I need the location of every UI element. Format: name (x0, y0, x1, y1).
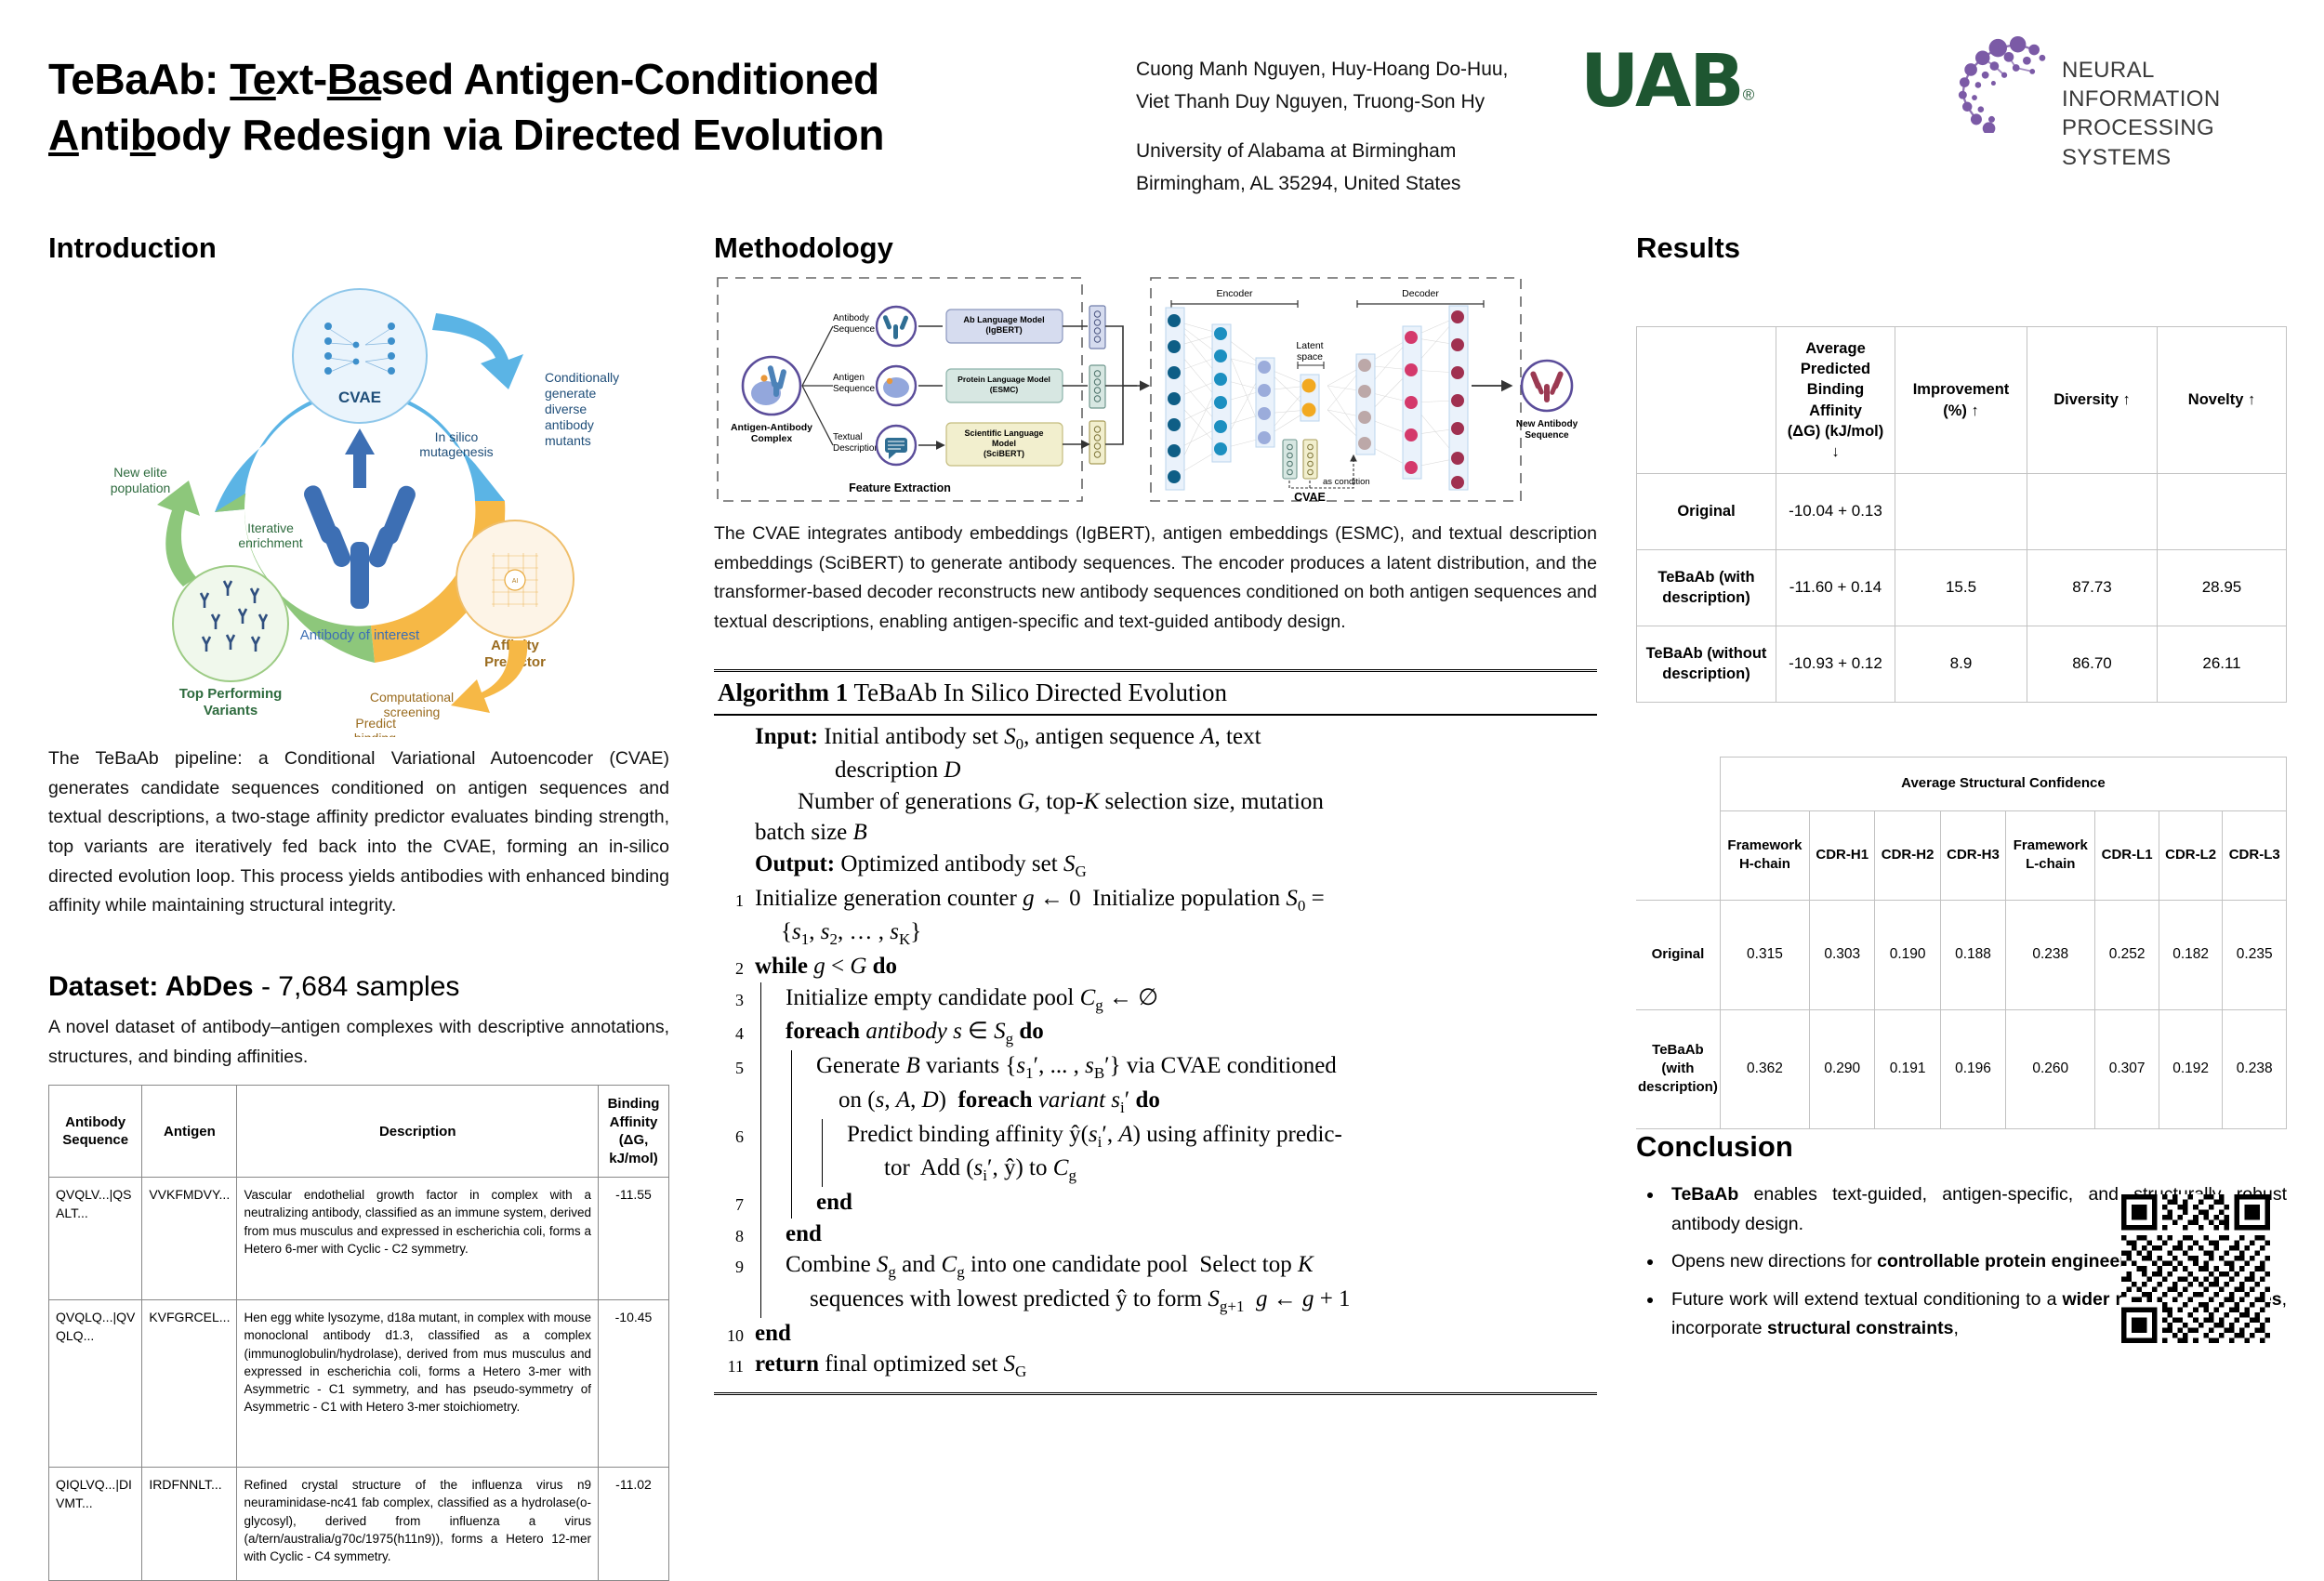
introduction-pipeline-figure: Antibody of interest CVAE (75, 272, 642, 737)
cell-antigen: IRDFNNLT... (142, 1468, 237, 1581)
figure-label-in-silico-2: mutagenesis (419, 444, 493, 459)
algorithm-output-label: Output: (755, 851, 835, 876)
authors-line-2: Viet Thanh Duy Nguyen, Truong-Son Hy (1136, 86, 1619, 119)
cell-antibody-sequence: QIQLVQ...|DI VMT... (49, 1468, 142, 1581)
table-row: QVQLV...|QS ALT... VVKFMDVY... Vascular … (49, 1178, 669, 1300)
col-header-cdr-l3: CDR-L3 (2223, 810, 2287, 900)
page-title-line-2: Antibody Redesign via Directed Evolution (48, 108, 1099, 164)
table-row: Original -10.04 + 0.13 (1637, 473, 2287, 549)
algorithm-line-text: Combine Sg and Cg into one candidate poo… (760, 1249, 1595, 1318)
algorithm-number: Algorithm 1 (718, 679, 848, 706)
algorithm-line-text: Predict binding affinity ŷ(si′, A) using… (822, 1119, 1595, 1188)
algorithm-line-text: end (791, 1187, 1595, 1219)
algorithm-line-number: 11 (716, 1349, 755, 1377)
results-table-affinity: Average Predicted Binding Affinity (ΔG) … (1636, 326, 2287, 703)
authors-block: Cuong Manh Nguyen, Huy-Hoang Do-Huu, Vie… (1136, 54, 1619, 118)
col-header-affinity-l1: Average Predicted (1801, 340, 1870, 377)
figure-label-decoder: Decoder (1402, 288, 1439, 299)
conclusion-b2-pre: Opens new directions for (1671, 1251, 1877, 1271)
col-header-framework-l-l1: Framework (2014, 837, 2088, 853)
table-row: QVQLQ...|QV QLQ... KVFGRCEL... Hen egg w… (49, 1300, 669, 1468)
algorithm-line: 1 Initialize generation counter g ← 0 In… (716, 883, 1595, 952)
neurips-logo-text: NEURAL INFORMATION PROCESSING SYSTEMS (2062, 56, 2296, 172)
algorithm-input-text: Input: Initial antibody set S0, antigen … (755, 721, 1595, 849)
figure-branch-text-l1: Textual (833, 432, 863, 442)
cell-improvement (1895, 473, 2027, 549)
cell-description: Vascular endothelial growth factor in co… (237, 1178, 599, 1300)
cell-binding-affinity: -11.55 (599, 1178, 669, 1300)
col-header-framework-h-l1: Framework (1727, 837, 1802, 853)
algorithm-line: 3 Initialize empty candidate pool Cg ← ∅ (716, 982, 1595, 1017)
algorithm-input-line-1: Initial antibody set S0, antigen sequenc… (824, 724, 1261, 749)
affiliation-line-1: University of Alabama at Birmingham (1136, 136, 1619, 168)
col-header-antibody-sequence: Antibody Sequence (49, 1086, 142, 1178)
row-label-l2: (with (1661, 1061, 1694, 1076)
cell-novelty (2158, 473, 2287, 549)
pipeline-cycle-diagram: Antibody of interest CVAE (75, 272, 642, 737)
figure-out-bottom-1: Predict (355, 716, 396, 731)
figure-node-top-variants-line1: Top Performing (179, 686, 283, 702)
cell-cdr-h2: 0.191 (1875, 1009, 1940, 1128)
group-header-avg-structural-confidence: Average Structural Confidence (1720, 757, 2286, 810)
cell-affinity: -10.04 + 0.13 (1776, 473, 1895, 549)
conclusion-b3-pre: Future work will extend textual conditio… (1671, 1289, 2063, 1310)
uab-registered-icon: ® (1743, 86, 1755, 104)
dataset-section: Dataset: AbDes - 7,684 samples A novel d… (48, 969, 669, 1581)
figure-out-right-3: diverse (545, 402, 587, 416)
cell-cdr-h3: 0.196 (1940, 1009, 2005, 1128)
table-header-row: Antibody Sequence Antigen Description Bi… (49, 1086, 669, 1178)
algorithm-line-number: 9 (716, 1249, 755, 1278)
algorithm-line-number (716, 721, 755, 728)
col-header-improvement: Improvement (%) ↑ (1895, 327, 2027, 474)
algorithm-line: 9 Combine Sg and Cg into one candidate p… (716, 1249, 1595, 1318)
section-heading-results: Results (1636, 231, 2287, 265)
cell-cdr-l2: 0.182 (2159, 900, 2223, 1009)
table-row: TeBaAb (with description) -11.60 + 0.14 … (1637, 549, 2287, 626)
col-header-affinity-l3: (ΔG) (kJ/mol) ↓ (1788, 423, 1884, 460)
cell-cdr-h2: 0.190 (1875, 900, 1940, 1009)
col-header-cdr-l2: CDR-L2 (2159, 810, 2223, 900)
algorithm-line: 8 end (716, 1219, 1595, 1250)
cell-description: Hen egg white lysozyme, d18a mutant, in … (237, 1300, 599, 1468)
figure-label-iterative-1: Iterative (247, 520, 294, 535)
col-header-framework-h: Framework H-chain (1720, 810, 1809, 900)
uab-logo-text: UAB (1580, 40, 1743, 124)
qr-code[interactable] (2121, 1194, 2270, 1343)
uab-logo: UAB® (1580, 45, 1868, 119)
algorithm-line-number: 1 (716, 883, 755, 912)
cell-framework-l: 0.260 (2006, 1009, 2095, 1128)
column-right: Results Average Predicted Binding Affini… (1636, 231, 2287, 1352)
figure-branch-antibody-l2: Sequence (833, 324, 875, 335)
dataset-heading: Dataset: AbDes - 7,684 samples (48, 969, 669, 1005)
row-label-l1: TeBaAb (without (1646, 645, 1767, 662)
table-header-row: Framework H-chain CDR-H1 CDR-H2 CDR-H3 F… (1636, 810, 2287, 900)
col-header-framework-l: Framework L-chain (2006, 810, 2095, 900)
col-header-blank (1637, 327, 1776, 474)
col-header-cdr-h1: CDR-H1 (1810, 810, 1875, 900)
algorithm-line-text: return final optimized set SG (755, 1349, 1595, 1383)
figure-label-complex-l1: Antigen-Antibody (731, 422, 812, 433)
cell-diversity: 87.73 (2027, 549, 2158, 626)
col-header-affinity-l2: Binding Affinity (1807, 381, 1864, 418)
title-block: TeBaAb: Text-Based Antigen-Conditioned A… (48, 52, 1099, 164)
column-left: Introduction (48, 231, 669, 1581)
cell-antibody-sequence: QVQLQ...|QV QLQ... (49, 1300, 142, 1468)
row-label-tebaab-without-description: TeBaAb (without description) (1637, 626, 1776, 702)
figure-label-complex-l2: Complex (751, 433, 793, 444)
dataset-description: A novel dataset of antibody–antigen comp… (48, 1013, 669, 1072)
cell-binding-affinity: -11.02 (599, 1468, 669, 1581)
figure-output-l1: New Antibody (1516, 419, 1578, 429)
algorithm-line-text: Initialize generation counter g ← 0 Init… (755, 883, 1595, 952)
cell-improvement: 15.5 (1895, 549, 2027, 626)
algorithm-line-number: 7 (716, 1187, 755, 1216)
algorithm-input-label: Input: (755, 724, 818, 749)
figure-label-cvae-box: CVAE (1294, 491, 1326, 504)
table-header-row: Average Structural Confidence (1636, 757, 2287, 810)
algorithm-line-text: Initialize empty candidate pool Cg ← ∅ (760, 982, 1595, 1017)
poster-root: TeBaAb: Text-Based Antigen-Conditioned A… (0, 0, 2324, 1548)
dataset-table: Antibody Sequence Antigen Description Bi… (48, 1085, 669, 1581)
col-header-novelty: Novelty ↑ (2158, 327, 2287, 474)
conclusion-b3-bold2: structural constraints (1767, 1318, 1953, 1338)
figure-model-sci-l3: (SciBERT) (984, 449, 1024, 458)
row-label-l1: TeBaAb (1652, 1042, 1704, 1058)
cell-cdr-h3: 0.188 (1940, 900, 2005, 1009)
figure-label-as-condition: as condition (1323, 477, 1370, 487)
col-header-cdr-h2: CDR-H2 (1875, 810, 1940, 900)
figure-model-protein-l1: Protein Language Model (957, 375, 1050, 384)
cell-diversity (2027, 473, 2158, 549)
figure-model-ab-l2: (IgBERT) (985, 325, 1022, 335)
algorithm-input-row: Input: Initial antibody set S0, antigen … (716, 721, 1595, 849)
row-label-l1: TeBaAb (with (1657, 569, 1754, 586)
figure-label-iterative-2: enrichment (238, 535, 302, 550)
cell-novelty: 26.11 (2158, 626, 2287, 702)
results-table-structural-confidence: Average Structural Confidence Framework … (1636, 757, 2287, 1129)
cell-description: Refined crystal structure of the influen… (237, 1468, 599, 1581)
cell-framework-h: 0.315 (1720, 900, 1809, 1009)
figure-label-feature-extraction: Feature Extraction (849, 481, 951, 494)
col-header-cdr-h3: CDR-H3 (1940, 810, 2005, 900)
algorithm-line: 4 foreach antibody s ∈ Sg do (716, 1016, 1595, 1050)
row-label-l2: description) (1662, 665, 1750, 682)
figure-label-antibody-of-interest: Antibody of interest (300, 627, 420, 643)
algorithm-output-text: Output: Optimized antibody set SG (755, 849, 1595, 883)
conclusion-b1-bold: TeBaAb (1671, 1184, 1738, 1205)
dataset-heading-light: - 7,684 samples (254, 971, 460, 1002)
algorithm-input-line-3: Number of generations G, top-K selection… (755, 786, 1595, 818)
figure-out-left-1: New elite (113, 465, 167, 480)
algorithm-box: Algorithm 1 TeBaAb In Silico Directed Ev… (714, 669, 1597, 1395)
col-header-blank-corner-2 (1636, 810, 1720, 900)
figure-out-left-2: population (111, 481, 171, 495)
figure-model-sci-l1: Scientific Language (964, 428, 1043, 438)
table-row: TeBaAb (with description) 0.362 0.290 0.… (1636, 1009, 2287, 1128)
section-heading-introduction: Introduction (48, 231, 669, 265)
cell-antibody-sequence: QVQLV...|QS ALT... (49, 1178, 142, 1300)
col-header-binding-affinity: Binding Affinity (ΔG, kJ/mol) (599, 1086, 669, 1178)
cell-affinity: -11.60 + 0.14 (1776, 549, 1895, 626)
col-header-diversity: Diversity ↑ (2027, 327, 2158, 474)
neurips-swirl-icon (1952, 35, 2062, 133)
figure-out-right-4: antibody (545, 417, 594, 432)
row-label-original: Original (1637, 473, 1776, 549)
algorithm-body: Input: Initial antibody set S0, antigen … (714, 716, 1597, 1392)
col-header-affinity-l2: Affinity (610, 1114, 658, 1130)
neurips-logo: NEURAL INFORMATION PROCESSING SYSTEMS (1952, 35, 2296, 133)
results-table-1-wrapper: Average Predicted Binding Affinity (ΔG) … (1636, 326, 2287, 703)
figure-node-top-variants-line2: Variants (204, 703, 257, 718)
algorithm-input-line-2: description D (755, 755, 1595, 786)
figure-model-ab-l1: Ab Language Model (963, 315, 1044, 324)
figure-out-right-1: Conditionally (545, 370, 619, 385)
figure-label-latent-l2: space (1297, 351, 1323, 362)
figure-branch-antigen-l2: Sequence (833, 384, 875, 394)
row-label-tebaab-with-description: TeBaAb (with description) (1636, 1009, 1720, 1128)
algorithm-output-row: Output: Optimized antibody set SG (716, 849, 1595, 883)
algorithm-line-text: Generate B variants {s1′, ... , sB′} via… (791, 1050, 1595, 1119)
col-header-framework-h-l2: H-chain (1739, 856, 1790, 872)
row-label-l2: description) (1662, 589, 1750, 606)
figure-label-latent-l1: Latent (1296, 340, 1323, 351)
figure-branch-antibody-l1: Antibody (833, 313, 869, 323)
cell-framework-l: 0.238 (2006, 900, 2095, 1009)
cell-diversity: 86.70 (2027, 626, 2158, 702)
col-header-antibody-l2: Sequence (62, 1132, 128, 1148)
figure-branch-antigen-l1: Antigen (833, 373, 865, 383)
algorithm-input-line-4: batch size B (755, 817, 1595, 849)
page-title-line-1: TeBaAb: Text-Based Antigen-Conditioned (48, 52, 1099, 108)
col-header-antigen: Antigen (142, 1086, 237, 1178)
conclusion-b3-post: , (1953, 1318, 1958, 1338)
cell-cdr-h1: 0.303 (1810, 900, 1875, 1009)
table-header-row: Average Predicted Binding Affinity (ΔG) … (1637, 327, 2287, 474)
cell-affinity: -10.93 + 0.12 (1776, 626, 1895, 702)
algorithm-line-text: end (760, 1219, 1595, 1250)
row-label-l3: description) (1638, 1079, 1718, 1095)
introduction-caption: The TeBaAb pipeline: a Conditional Varia… (48, 744, 669, 920)
algorithm-line: 2 while g < G do (716, 951, 1595, 982)
algorithm-line-text: end (755, 1318, 1595, 1350)
col-header-framework-l-l2: L-chain (2026, 856, 2075, 872)
row-label-original: Original (1636, 900, 1720, 1009)
authors-line-1: Cuong Manh Nguyen, Huy-Hoang Do-Huu, (1136, 54, 1619, 86)
cell-binding-affinity: -10.45 (599, 1300, 669, 1468)
table-row: QIQLVQ...|DI VMT... IRDFNNLT... Refined … (49, 1468, 669, 1581)
algorithm-line-number: 3 (716, 982, 755, 1011)
algorithm-line: 6 Predict binding affinity ŷ(si′, A) usi… (716, 1119, 1595, 1188)
figure-label-screening-1: Computational (370, 690, 454, 705)
algorithm-line: 10 end (716, 1318, 1595, 1350)
svg-text:AI: AI (512, 578, 519, 585)
algorithm-line-number: 6 (716, 1119, 755, 1148)
neurips-text-line-1: NEURAL INFORMATION (2062, 56, 2296, 113)
col-header-blank-corner (1636, 757, 1720, 810)
algorithm-line: 7 end (716, 1187, 1595, 1219)
col-header-affinity-l1: Binding (608, 1096, 660, 1112)
table-row: TeBaAb (without description) -10.93 + 0.… (1637, 626, 2287, 702)
figure-model-sci-l2: Model (992, 439, 1016, 448)
section-heading-conclusion: Conclusion (1636, 1129, 2287, 1164)
table-row: Original 0.315 0.303 0.190 0.188 0.238 0… (1636, 900, 2287, 1009)
col-header-description: Description (237, 1086, 599, 1178)
cell-novelty: 28.95 (2158, 549, 2287, 626)
algorithm-line-text: foreach antibody s ∈ Sg do (760, 1016, 1595, 1050)
algorithm-line-number: 5 (716, 1050, 755, 1079)
section-heading-methodology: Methodology (714, 231, 1597, 265)
algorithm-line-number: 2 (716, 951, 755, 980)
col-header-avg-binding-affinity: Average Predicted Binding Affinity (ΔG) … (1776, 327, 1895, 474)
figure-output-l2: Sequence (1525, 430, 1569, 441)
figure-branch-text-l2: Description (833, 443, 879, 454)
algorithm-line: 5 Generate B variants {s1′, ... , sB′} v… (716, 1050, 1595, 1119)
column-middle: Methodology Feature Extraction Antigen-A… (714, 231, 1597, 1395)
results-table-2-wrapper: Average Structural Confidence Framework … (1636, 757, 2287, 1129)
conclusion-b2-bold: controllable protein engineering (1877, 1251, 2154, 1271)
algorithm-line-number: 8 (716, 1219, 755, 1247)
methodology-architecture-figure: Feature Extraction Antigen-Antibody Comp… (714, 272, 1597, 507)
affiliation-block: University of Alabama at Birmingham Birm… (1136, 136, 1619, 200)
figure-label-encoder: Encoder (1216, 288, 1253, 299)
cvae-architecture-diagram: Feature Extraction Antigen-Antibody Comp… (714, 272, 1597, 507)
figure-out-right-2: generate (545, 386, 596, 401)
algorithm-line-text: while g < G do (755, 951, 1595, 982)
cell-cdr-l2: 0.192 (2159, 1009, 2223, 1128)
row-label-tebaab-with-description: TeBaAb (with description) (1637, 549, 1776, 626)
cell-cdr-l3: 0.235 (2223, 900, 2287, 1009)
col-header-cdr-l1: CDR-L1 (2095, 810, 2159, 900)
cell-cdr-l3: 0.238 (2223, 1009, 2287, 1128)
figure-out-right-5: mutants (545, 433, 591, 448)
cell-cdr-l1: 0.307 (2095, 1009, 2159, 1128)
figure-node-cvae: CVAE (338, 389, 381, 406)
figure-model-protein-l2: (ESMC) (990, 385, 1019, 394)
affiliation-line-2: Birmingham, AL 35294, United States (1136, 168, 1619, 201)
figure-out-bottom-2: binding (354, 731, 396, 737)
algorithm-title: TeBaAb In Silico Directed Evolution (854, 679, 1228, 706)
cell-antigen: VVKFMDVY... (142, 1178, 237, 1300)
figure-label-in-silico-1: In silico (435, 429, 479, 444)
algorithm-line-number (716, 849, 755, 855)
dataset-heading-bold: Dataset: AbDes (48, 971, 254, 1002)
algorithm-header: Algorithm 1 TeBaAb In Silico Directed Ev… (714, 672, 1597, 716)
neurips-text-line-2: PROCESSING SYSTEMS (2062, 113, 2296, 171)
algorithm-line: 11 return final optimized set SG (716, 1349, 1595, 1383)
algorithm-line-number: 10 (716, 1318, 755, 1347)
cell-cdr-l1: 0.252 (2095, 900, 2159, 1009)
cell-framework-h: 0.362 (1720, 1009, 1809, 1128)
methodology-caption: The CVAE integrates antibody embeddings … (714, 520, 1597, 637)
cell-antigen: KVFGRCEL... (142, 1300, 237, 1468)
cell-cdr-h1: 0.290 (1810, 1009, 1875, 1128)
col-header-affinity-l3: (ΔG, kJ/mol) (609, 1132, 658, 1166)
cell-improvement: 8.9 (1895, 626, 2027, 702)
poster-header: TeBaAb: Text-Based Antigen-Conditioned A… (0, 0, 2324, 200)
col-header-antibody-l1: Antibody (65, 1114, 125, 1130)
algorithm-line-number: 4 (716, 1016, 755, 1045)
